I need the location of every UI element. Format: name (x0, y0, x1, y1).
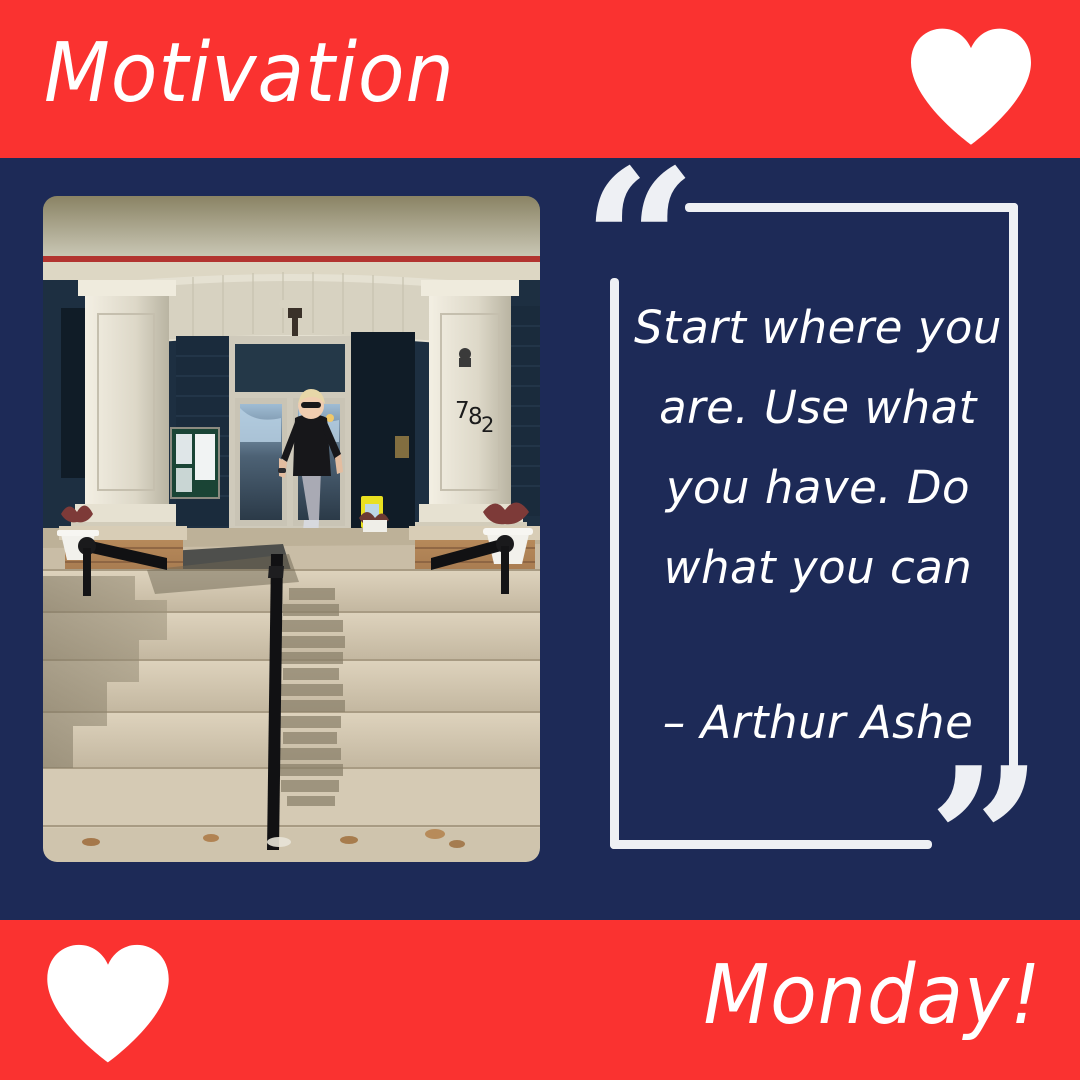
quote-frame-bottom-line (610, 840, 932, 849)
svg-text:2: 2 (481, 413, 494, 437)
porch-photo-illustration: 7 8 2 (43, 196, 540, 862)
porch-photo: 7 8 2 (43, 196, 540, 862)
page-title: Motivation (44, 26, 455, 122)
heart-icon (905, 26, 1037, 146)
social-post-canvas: Motivation (0, 0, 1080, 1080)
footer-title: Monday! (704, 948, 1042, 1044)
quote-card: “ Start where you are. Use what you have… (560, 180, 1060, 880)
quote-text: Start where you are. Use what you have. … (632, 288, 1004, 608)
quote-frame-right-line (1009, 203, 1018, 780)
heart-icon (42, 942, 174, 1064)
close-quote-icon: ” (928, 742, 1043, 942)
quote-frame-top-line (685, 203, 1018, 212)
quote-frame-left-line (610, 278, 619, 849)
